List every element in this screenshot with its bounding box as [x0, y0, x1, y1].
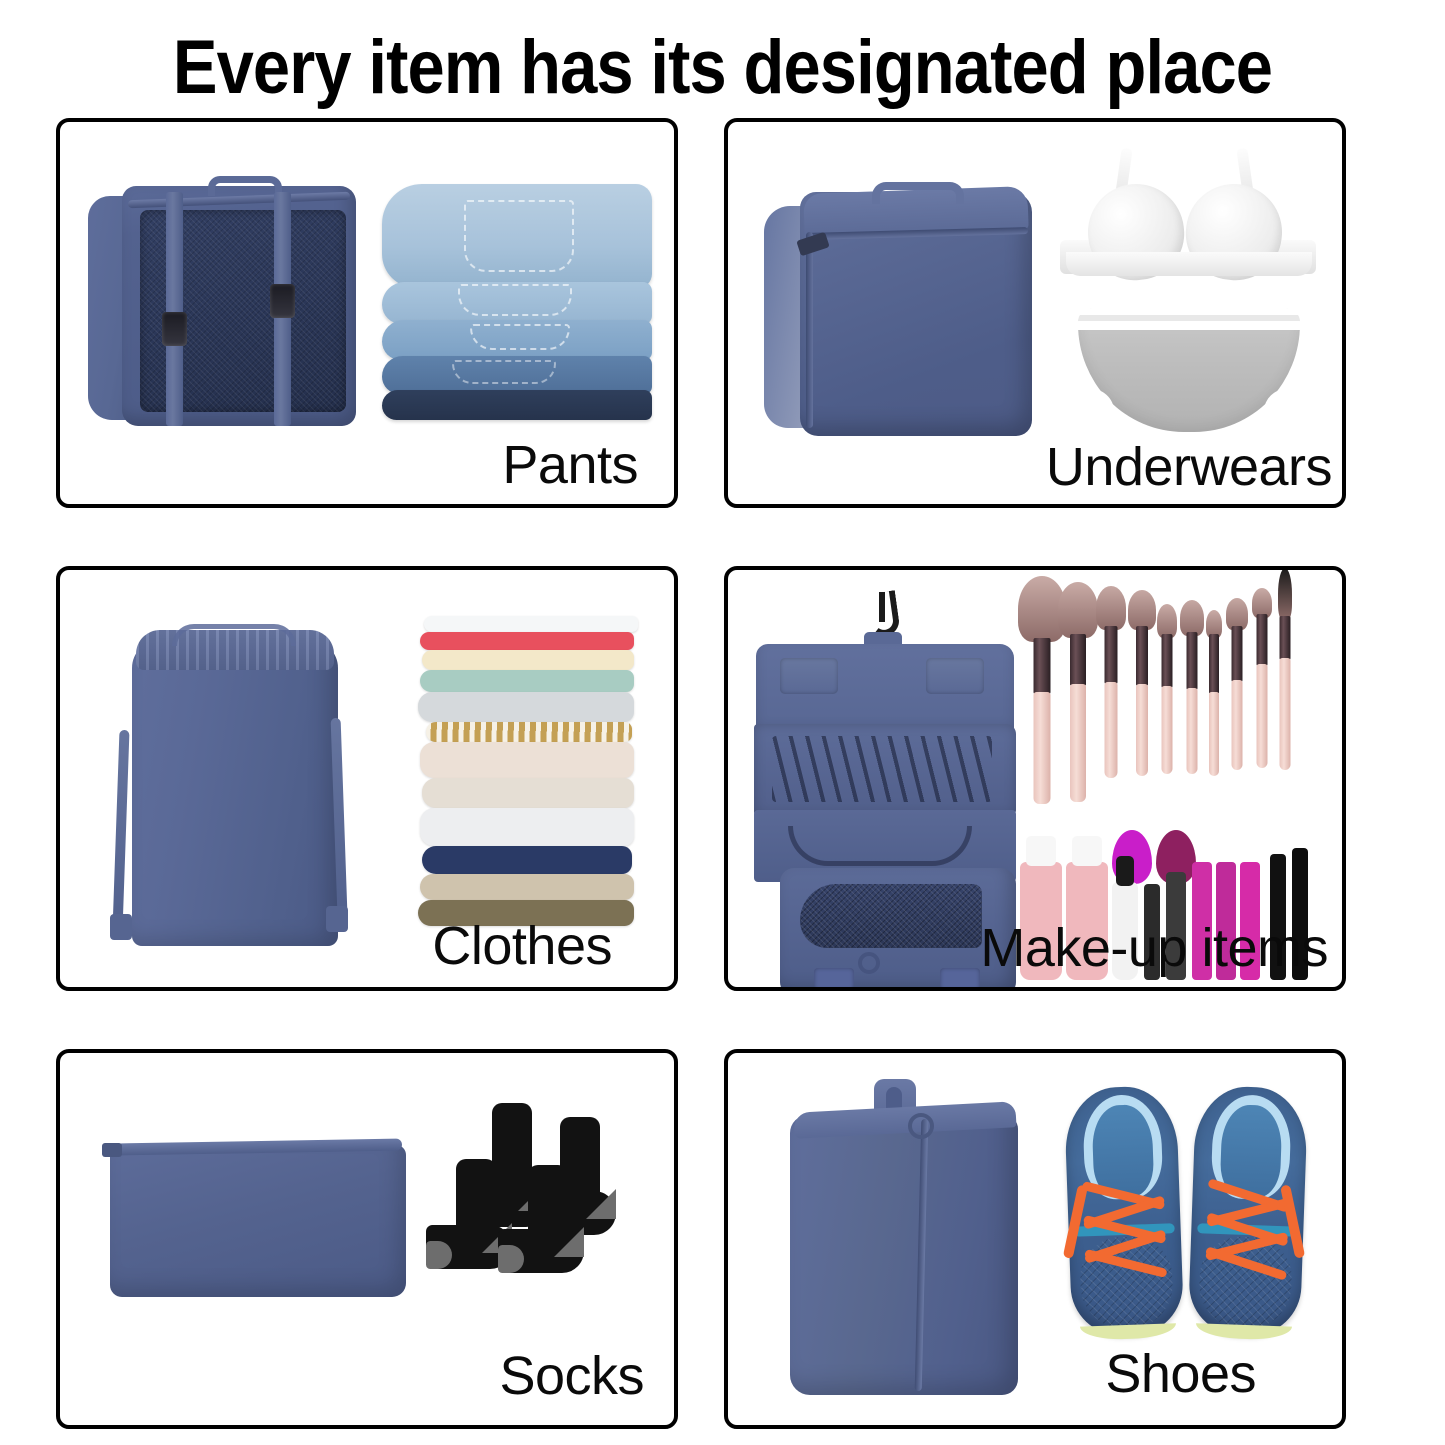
zipper-pull-ring	[858, 952, 880, 974]
makeup-brush	[1157, 604, 1177, 780]
sneaker	[1064, 1085, 1185, 1337]
sock	[498, 1165, 596, 1293]
jeans-pocket	[470, 324, 570, 350]
brush-handle	[1162, 686, 1173, 774]
brush-handle	[1280, 658, 1291, 770]
brush-bristles	[1157, 604, 1177, 638]
sneaker	[1188, 1085, 1309, 1337]
clothes-layer	[422, 778, 634, 808]
folded-clothes-stack-icon	[420, 616, 634, 922]
brush-ferrule	[1257, 614, 1268, 666]
brush-ferrule	[1232, 626, 1243, 682]
makeup-brush	[1206, 610, 1222, 782]
panel-label-socks: Socks	[499, 1347, 644, 1405]
brush-handle	[1187, 688, 1198, 774]
panel-shoes[interactable]: Shoes	[724, 1049, 1346, 1429]
pouch-tab	[814, 968, 854, 990]
briefs-leg-opening-right	[1264, 388, 1316, 434]
hanger-hook-icon	[865, 590, 901, 638]
cube-buckle-left	[162, 312, 187, 346]
bottle-cap	[1072, 836, 1102, 866]
toiletry-bag-tab	[926, 658, 984, 694]
clothes-layer	[420, 632, 634, 650]
panel-socks[interactable]: Socks	[56, 1049, 678, 1429]
black-socks-icon	[420, 1103, 626, 1303]
bra-band	[1066, 252, 1312, 276]
clothes-layer	[418, 692, 634, 722]
clothes-layer	[420, 742, 634, 778]
panel-underwears-stage: Underwears	[728, 122, 1342, 504]
brush-ferrule	[1070, 634, 1086, 686]
panel-shoes-stage: Shoes	[728, 1053, 1342, 1425]
panel-clothes-stage: Clothes	[60, 570, 674, 987]
toiletry-bag-brush-panel	[754, 724, 1016, 816]
panel-label-underwears: Underwears	[1046, 438, 1332, 496]
shoe-bag-icon	[790, 1079, 1020, 1399]
drawstring-tie-left	[113, 730, 130, 930]
drawstring-cord	[172, 624, 296, 646]
clothes-layer	[422, 650, 634, 670]
packing-cube-large-mesh-icon	[88, 180, 356, 432]
brush-handle	[1105, 682, 1118, 778]
cube-buckle-right	[270, 284, 295, 318]
clothes-layer	[420, 808, 634, 846]
makeup-brush	[1180, 600, 1204, 780]
brush-bristles	[1180, 600, 1204, 636]
panel-label-pants: Pants	[502, 436, 638, 494]
panel-makeup-stage: Make-up items	[728, 570, 1342, 987]
brush-ferrule	[1187, 632, 1198, 690]
makeup-brush	[1226, 598, 1248, 776]
panel-makeup[interactable]: Make-up items	[724, 566, 1346, 991]
jeans-pocket	[452, 360, 556, 384]
briefs-icon	[1078, 308, 1300, 432]
infographic-page: Every item has its designated place	[0, 0, 1445, 1445]
sneaker-tongue	[1091, 1104, 1154, 1198]
page-title: Every item has its designated place	[87, 26, 1359, 110]
sneaker-outsole	[1196, 1323, 1292, 1340]
cube-strap-left	[166, 192, 183, 426]
makeup-brush	[1252, 588, 1272, 774]
cube-handle	[208, 176, 282, 196]
elastic-arc-strap	[788, 826, 972, 866]
panel-pants-stage: Pants	[60, 122, 674, 504]
brush-ferrule	[1136, 626, 1148, 686]
drawstring-bag-icon	[102, 618, 362, 948]
brush-bristles	[1058, 582, 1098, 638]
panel-socks-stage: Socks	[60, 1053, 674, 1425]
brush-handle	[1232, 680, 1243, 770]
makeup-brush	[1058, 582, 1098, 808]
brush-ferrule	[1162, 634, 1173, 688]
brush-bristles	[1278, 568, 1292, 620]
brush-handle	[1034, 692, 1051, 804]
bottle-cap	[1116, 856, 1135, 886]
panel-underwears[interactable]: Underwears	[724, 118, 1346, 508]
drawstring-tip-left	[110, 914, 132, 940]
brush-ferrule	[1209, 634, 1219, 694]
drawstring-tip-right	[326, 906, 348, 932]
shoe-bag-zipper-ring	[908, 1113, 934, 1139]
clothes-layer	[420, 874, 634, 900]
jeans-pocket	[464, 200, 574, 272]
bottle-cap	[1026, 836, 1056, 866]
drawstring-bag-body	[132, 640, 338, 946]
makeup-brush	[1096, 586, 1126, 784]
brush-handle	[1136, 684, 1148, 776]
jeans-layer	[382, 390, 652, 420]
zcube-handle	[872, 182, 964, 204]
hanging-toiletry-bag-icon	[750, 592, 1022, 972]
sneakers-icon	[1068, 1087, 1304, 1335]
pouch-zipper	[116, 1139, 402, 1156]
brush-bristles	[1128, 590, 1156, 630]
brush-ferrule	[1105, 626, 1118, 684]
zcube-zipper-side	[806, 232, 813, 428]
pouch-zipper-pull	[102, 1143, 122, 1157]
folded-jeans-stack-icon	[382, 184, 652, 414]
brush-bristles	[1096, 586, 1126, 630]
panel-label-clothes: Clothes	[432, 917, 612, 975]
mesh-window	[800, 884, 982, 948]
clothes-layer	[426, 722, 631, 742]
clothes-layer	[424, 616, 638, 632]
shoe-bag-body	[790, 1115, 1018, 1395]
jeans-pocket	[458, 284, 572, 316]
brush-ferrule	[1034, 638, 1051, 694]
makeup-brush	[1278, 568, 1292, 776]
panel-grid: Pants	[56, 118, 1346, 1418]
makeup-brush	[1128, 590, 1156, 782]
toiletry-bag-flap	[756, 644, 1014, 734]
panel-pants[interactable]: Pants	[56, 118, 678, 508]
panel-clothes[interactable]: Clothes	[56, 566, 678, 991]
brush-handle	[1070, 684, 1086, 802]
briefs-leg-opening-left	[1062, 388, 1114, 434]
clothes-layer	[420, 670, 634, 692]
underwear-set-icon	[1064, 148, 1314, 434]
briefs-waistband	[1078, 308, 1300, 330]
bra-icon	[1064, 148, 1314, 298]
brush-elastic-loops	[772, 736, 992, 802]
sneaker-outsole	[1080, 1323, 1176, 1340]
pouch-tab	[940, 968, 980, 990]
flat-zip-pouch-icon	[110, 1145, 406, 1297]
clothes-layer	[422, 846, 632, 874]
brush-handle	[1209, 692, 1219, 776]
toiletry-bag-tab	[780, 658, 838, 694]
panel-label-shoes: Shoes	[1105, 1345, 1256, 1403]
brush-handle	[1257, 664, 1268, 768]
panel-label-makeup: Make-up items	[980, 919, 1328, 977]
brush-ferrule	[1280, 616, 1291, 660]
packing-cube-zippered-icon	[764, 184, 1032, 444]
